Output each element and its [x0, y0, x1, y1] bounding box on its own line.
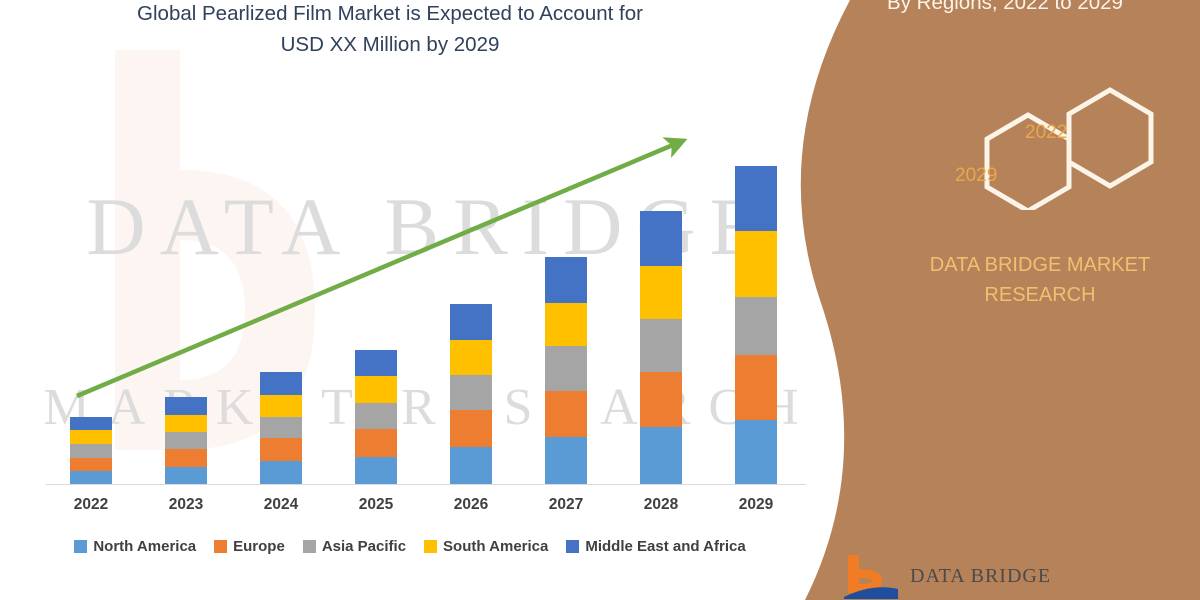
bar-segment	[450, 340, 492, 375]
bar-segment	[355, 457, 397, 485]
bar-segment	[260, 461, 302, 485]
bar-segment	[355, 350, 397, 376]
hexagon-2022-shape	[1069, 90, 1151, 186]
bar-group	[46, 120, 136, 485]
x-axis-tick-label: 2022	[46, 496, 136, 514]
chart-legend: North AmericaEuropeAsia PacificSouth Ame…	[0, 538, 820, 555]
bar-group	[236, 120, 326, 485]
bar-segment	[70, 471, 112, 485]
legend-item[interactable]: North America	[74, 538, 196, 555]
bar-segment	[450, 410, 492, 447]
bar-segment	[165, 449, 207, 466]
bar-segment	[450, 304, 492, 340]
legend-label: Europe	[233, 538, 285, 555]
bar-segment	[70, 417, 112, 431]
brand-panel: By Regions, 2022 to 2029 2022 2029 DATA …	[780, 0, 1200, 600]
bar-segment	[735, 297, 777, 355]
bar-segment	[165, 397, 207, 415]
bar-segment	[735, 166, 777, 232]
bar-segment	[545, 303, 587, 347]
x-axis-tick-label: 2027	[521, 496, 611, 514]
bar-segment	[70, 458, 112, 472]
x-axis-tick-label: 2028	[616, 496, 706, 514]
plot-area	[46, 120, 806, 485]
brand-name-line-1: DATA BRIDGE MARKET	[880, 250, 1200, 280]
bar-segment	[640, 319, 682, 372]
bar-segment	[450, 375, 492, 411]
x-axis-tick-label: 2023	[141, 496, 231, 514]
legend-label: South America	[443, 538, 548, 555]
brand-header: By Regions, 2022 to 2029	[810, 0, 1200, 18]
bar-segment	[260, 395, 302, 417]
bar-segment	[355, 403, 397, 429]
axis-baseline	[46, 484, 806, 485]
bar-segment	[165, 415, 207, 432]
legend-label: Middle East and Africa	[585, 538, 745, 555]
bar-group	[426, 120, 516, 485]
hexagon-2022-label: 2022	[1025, 122, 1067, 144]
legend-item[interactable]: Asia Pacific	[303, 538, 406, 555]
legend-swatch-icon	[74, 540, 87, 553]
page-title: Global Pearlized Film Market is Expected…	[60, 0, 720, 60]
bar-group	[521, 120, 611, 485]
chart-title-line-1: Global Pearlized Film Market is Expected…	[60, 0, 720, 29]
stacked-bar	[735, 166, 777, 485]
bar-segment	[640, 211, 682, 266]
legend-label: Asia Pacific	[322, 538, 406, 555]
bar-group	[331, 120, 421, 485]
bar-segment	[545, 391, 587, 437]
legend-swatch-icon	[424, 540, 437, 553]
bar-segment	[165, 467, 207, 485]
bar-segment	[735, 231, 777, 297]
footer-logo-text: DATA BRIDGE	[910, 565, 1051, 588]
x-axis-tick-label: 2025	[331, 496, 421, 514]
bar-segment	[70, 444, 112, 458]
stacked-bar	[355, 350, 397, 485]
brand-name-line-2: RESEARCH	[880, 280, 1200, 310]
stacked-bar	[450, 304, 492, 485]
chart-panel: DATA BRIDGE MARKET RESEARCH Global Pearl…	[0, 0, 860, 600]
bar-segment	[70, 430, 112, 444]
bar-group	[141, 120, 231, 485]
bar-segment	[545, 437, 587, 485]
bar-segment	[735, 355, 777, 420]
legend-swatch-icon	[214, 540, 227, 553]
bar-segment	[545, 257, 587, 303]
hexagon-badges	[920, 85, 1200, 210]
stacked-bar	[545, 257, 587, 485]
bar-segment	[640, 372, 682, 427]
bar-segment	[640, 266, 682, 319]
bar-segment	[735, 420, 777, 485]
bar-segment	[545, 346, 587, 391]
bar-group	[616, 120, 706, 485]
stacked-bar	[640, 211, 682, 485]
bar-segment	[165, 432, 207, 449]
legend-item[interactable]: South America	[424, 538, 548, 555]
legend-swatch-icon	[303, 540, 316, 553]
bar-segment	[260, 417, 302, 439]
stacked-bar	[70, 417, 112, 485]
x-axis-labels: 20222023202420252026202720282029	[46, 496, 806, 524]
bar-segment	[450, 447, 492, 485]
bar-segment	[260, 372, 302, 395]
legend-label: North America	[93, 538, 196, 555]
bar-segment	[260, 438, 302, 461]
x-axis-tick-label: 2026	[426, 496, 516, 514]
bar-segment	[640, 427, 682, 485]
legend-swatch-icon	[566, 540, 579, 553]
hexagon-2029-label: 2029	[955, 165, 997, 187]
bar-segment	[355, 376, 397, 402]
stacked-bar	[165, 397, 207, 485]
stacked-bar	[260, 372, 302, 485]
chart-title-line-2: USD XX Million by 2029	[60, 29, 720, 60]
brand-name: DATA BRIDGE MARKET RESEARCH	[880, 250, 1200, 310]
legend-item[interactable]: Middle East and Africa	[566, 538, 745, 555]
legend-item[interactable]: Europe	[214, 538, 285, 555]
market-report-infographic: DATA BRIDGE MARKET RESEARCH Global Pearl…	[0, 0, 1200, 600]
hexagon-outlines-icon	[920, 85, 1200, 210]
x-axis-tick-label: 2024	[236, 496, 326, 514]
data-bridge-mark-icon	[842, 553, 900, 599]
bar-segment	[355, 429, 397, 456]
footer-logo: DATA BRIDGE	[842, 552, 1142, 600]
